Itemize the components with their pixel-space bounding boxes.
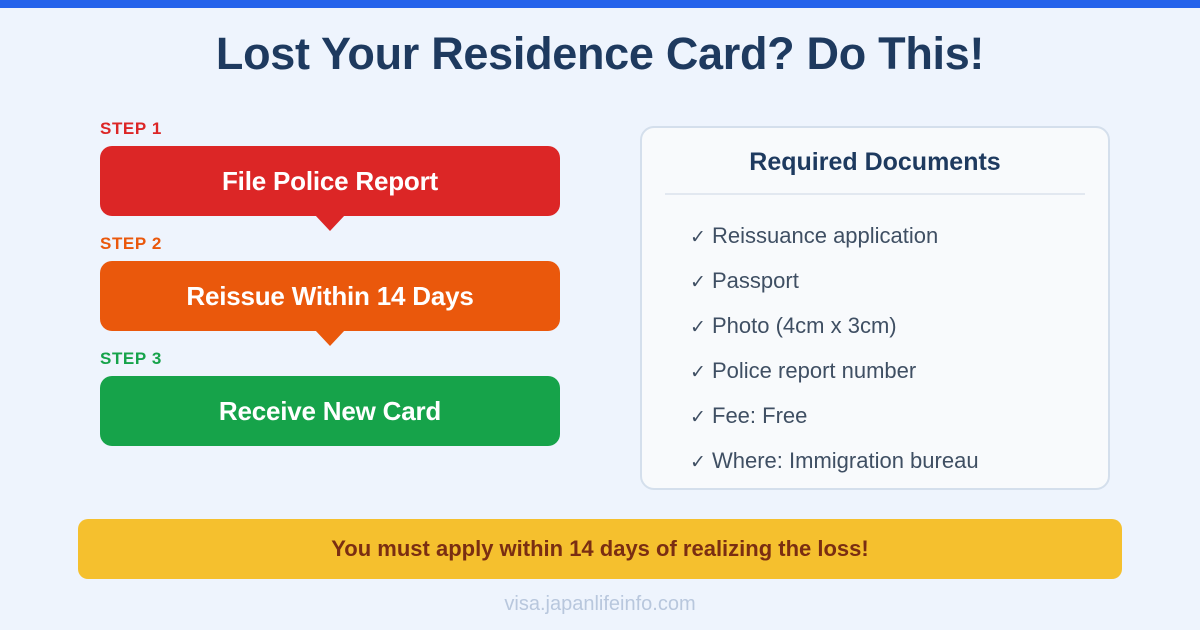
document-list-item: ✓Where: Immigration bureau bbox=[690, 438, 1108, 483]
warning-banner: You must apply within 14 days of realizi… bbox=[78, 519, 1122, 579]
step-arrow-down-icon-1 bbox=[315, 215, 345, 231]
document-list-item-label: Photo (4cm x 3cm) bbox=[712, 303, 897, 348]
document-list-item: ✓Police report number bbox=[690, 348, 1108, 393]
step-label-2: STEP 2 bbox=[100, 233, 560, 255]
documents-panel-title: Required Documents bbox=[642, 148, 1108, 177]
step-label-3: STEP 3 bbox=[100, 348, 560, 370]
document-list-item-label: Passport bbox=[712, 258, 799, 303]
check-icon: ✓ bbox=[690, 215, 712, 260]
documents-panel-divider bbox=[665, 193, 1085, 195]
top-accent-bar bbox=[0, 0, 1200, 8]
check-icon: ✓ bbox=[690, 440, 712, 485]
document-list-item: ✓Reissuance application bbox=[690, 213, 1108, 258]
check-icon: ✓ bbox=[690, 260, 712, 305]
document-list-item-label: Reissuance application bbox=[712, 213, 938, 258]
step-arrow-down-icon-2 bbox=[315, 330, 345, 346]
step-box-receive-new-card[interactable]: Receive New Card bbox=[100, 376, 560, 446]
step-group-3: STEP 3 Receive New Card bbox=[100, 348, 560, 446]
step-box-file-police-report[interactable]: File Police Report bbox=[100, 146, 560, 216]
required-documents-panel: Required Documents ✓Reissuance applicati… bbox=[640, 126, 1110, 490]
step-box-reissue-within-14-days[interactable]: Reissue Within 14 Days bbox=[100, 261, 560, 331]
check-icon: ✓ bbox=[690, 305, 712, 350]
documents-list: ✓Reissuance application✓Passport✓Photo (… bbox=[642, 213, 1108, 483]
step-box-label-3: Receive New Card bbox=[219, 396, 441, 427]
document-list-item: ✓Fee: Free bbox=[690, 393, 1108, 438]
document-list-item: ✓Passport bbox=[690, 258, 1108, 303]
page-title: Lost Your Residence Card? Do This! bbox=[0, 28, 1200, 80]
step-label-1: STEP 1 bbox=[100, 118, 560, 140]
document-list-item-label: Where: Immigration bureau bbox=[712, 438, 979, 483]
document-list-item-label: Fee: Free bbox=[712, 393, 807, 438]
step-group-1: STEP 1 File Police Report bbox=[100, 118, 560, 216]
check-icon: ✓ bbox=[690, 350, 712, 395]
steps-column: STEP 1 File Police Report STEP 2 Reissue… bbox=[100, 118, 560, 446]
step-box-label-2: Reissue Within 14 Days bbox=[186, 281, 473, 312]
footer-url: visa.japanlifeinfo.com bbox=[0, 593, 1200, 616]
step-group-2: STEP 2 Reissue Within 14 Days bbox=[100, 233, 560, 331]
document-list-item-label: Police report number bbox=[712, 348, 916, 393]
step-box-label-1: File Police Report bbox=[222, 166, 438, 197]
check-icon: ✓ bbox=[690, 395, 712, 440]
warning-banner-text: You must apply within 14 days of realizi… bbox=[331, 536, 868, 562]
document-list-item: ✓Photo (4cm x 3cm) bbox=[690, 303, 1108, 348]
